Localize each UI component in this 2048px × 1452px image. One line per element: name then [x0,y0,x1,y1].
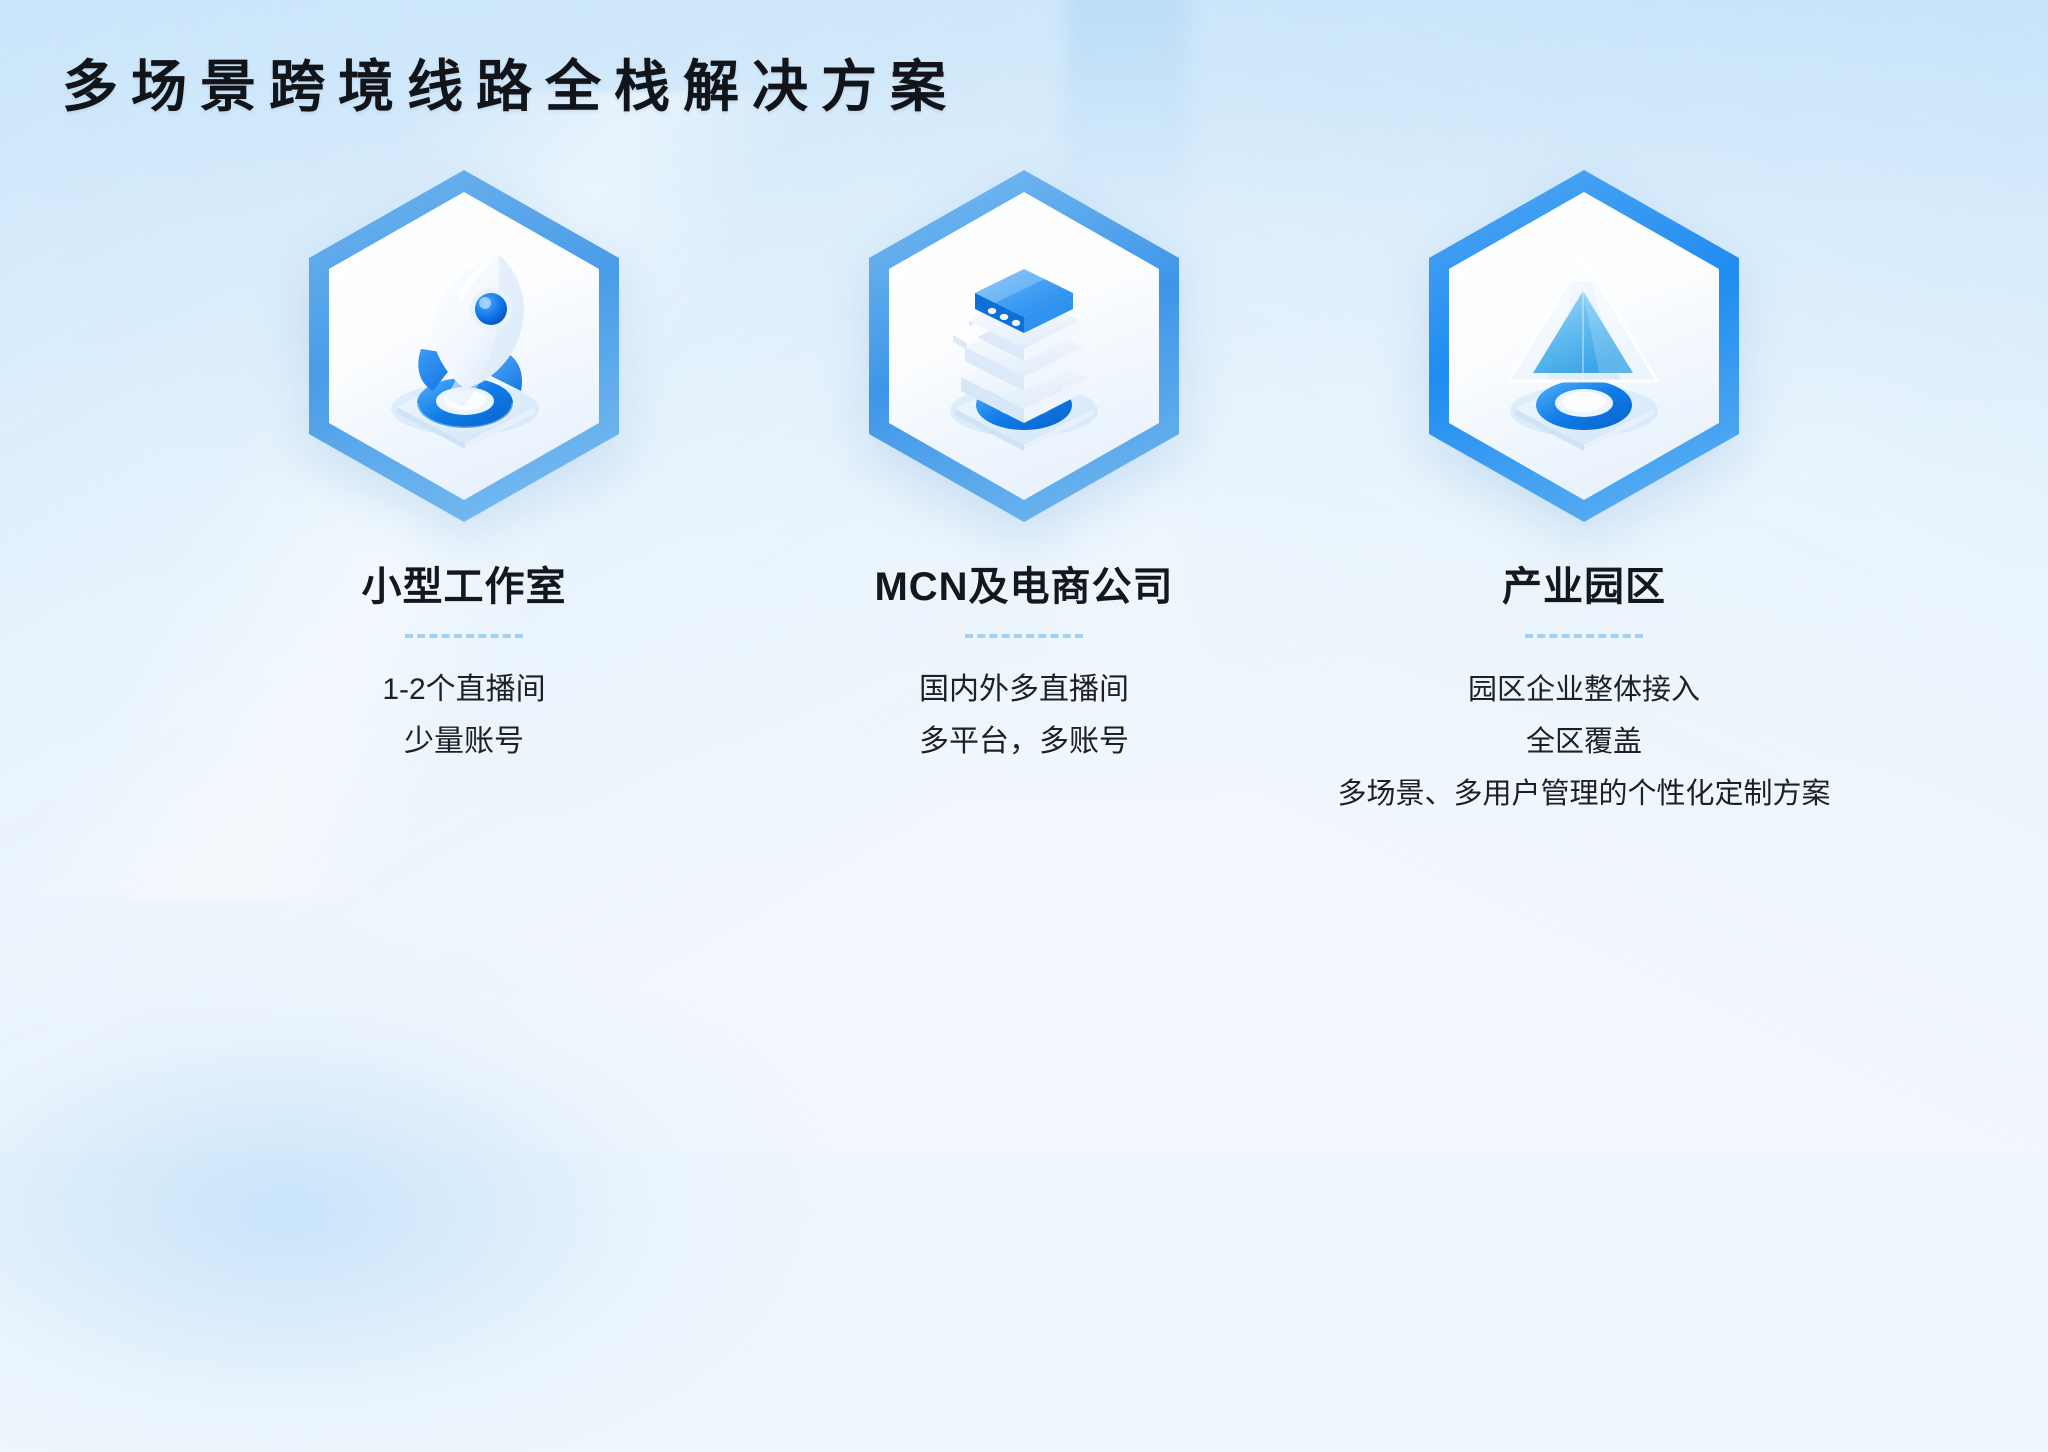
triangle-prism-icon [1469,231,1699,461]
desc-line: 园区企业整体接入 [1337,664,1830,716]
server-stack-icon [909,231,1139,461]
page-title: 多场景跨境线路全栈解决方案 [62,56,959,119]
card-description: 园区企业整体接入 全区覆盖 多场景、多用户管理的个性化定制方案 [1337,664,1830,820]
card-industrial-park[interactable]: 产业园区 园区企业整体接入 全区覆盖 多场景、多用户管理的个性化定制方案 [1304,170,1864,820]
desc-line: 1-2个直播间 [382,664,545,716]
card-description: 国内外多直播间 多平台，多账号 [919,664,1129,768]
hexagon-badge-2 [869,170,1179,522]
card-small-studio[interactable]: 小型工作室 1-2个直播间 少量账号 [184,170,744,768]
dashed-divider [405,634,523,638]
card-title: 产业园区 [1502,554,1666,612]
card-description: 1-2个直播间 少量账号 [382,664,545,768]
hexagon-badge-1 [309,170,619,522]
dashed-divider [965,634,1083,638]
card-mcn-ecommerce[interactable]: MCN及电商公司 国内外多直播间 多平台，多账号 [744,170,1304,768]
desc-line: 国内外多直播间 [919,664,1129,716]
hexagon-badge-3 [1429,170,1739,522]
dashed-divider [1525,634,1643,638]
card-title: 小型工作室 [362,554,567,612]
desc-line: 多平台，多账号 [919,716,1129,768]
desc-line: 少量账号 [382,716,545,768]
rocket-icon [349,231,579,461]
desc-line: 多场景、多用户管理的个性化定制方案 [1337,768,1830,820]
card-row: 小型工作室 1-2个直播间 少量账号 [0,170,2048,820]
desc-line: 全区覆盖 [1337,716,1830,768]
background-bottom-glow [0,852,963,1451]
card-title: MCN及电商公司 [874,554,1173,612]
